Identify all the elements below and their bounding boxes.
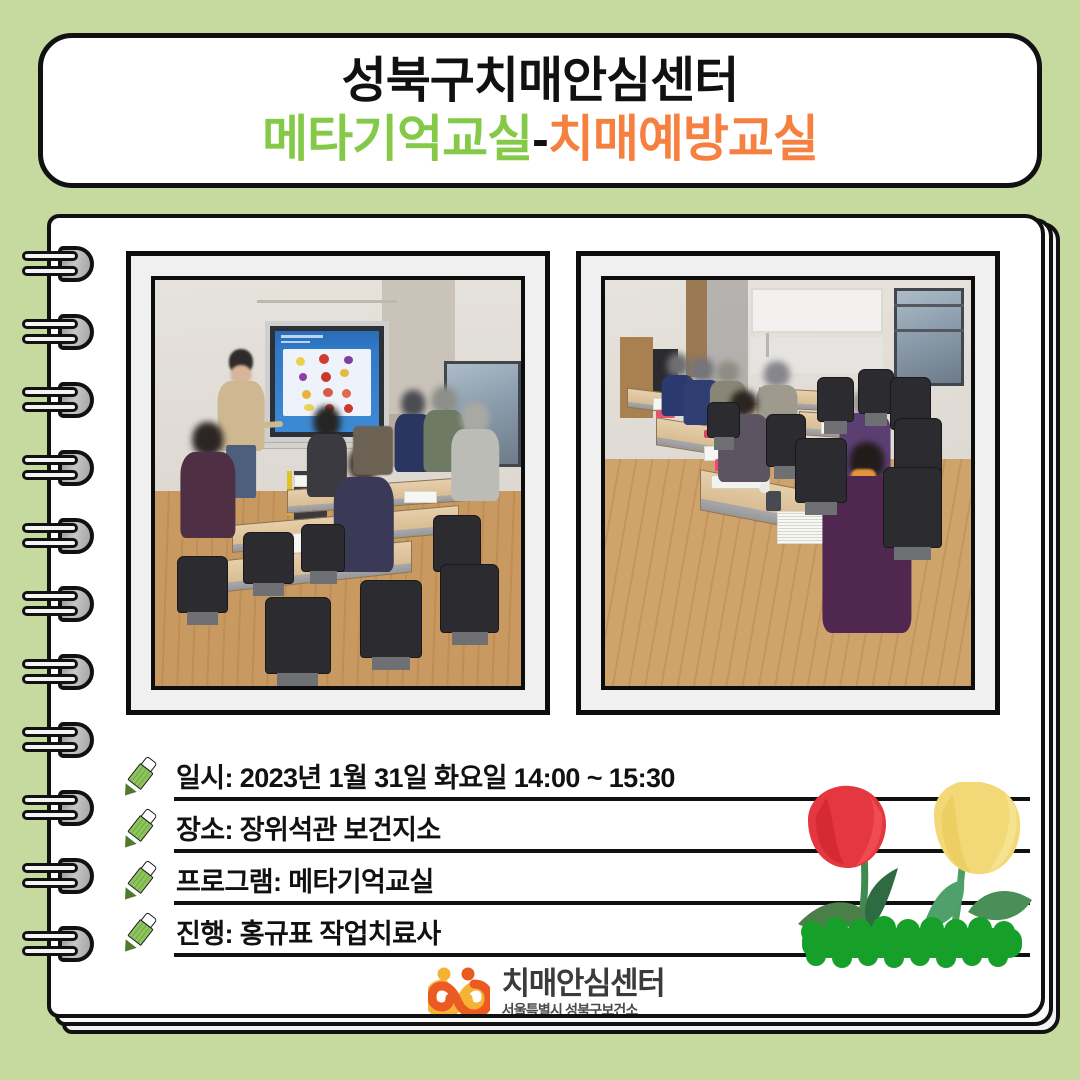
- classroom-lecture-photo: [151, 276, 525, 690]
- pencil-icon: [129, 806, 171, 848]
- photo-frame-lecture: [126, 251, 550, 715]
- subtitle-separator: -: [532, 111, 548, 167]
- logo-title: 치매안심센터: [502, 968, 665, 999]
- info-text-location: 장소: 장위석관 보건지소: [176, 808, 441, 847]
- pencil-icon: [129, 910, 171, 952]
- logo-subtitle: 서울특별시 성북구보건소: [502, 1003, 665, 1017]
- info-text-datetime: 일시: 2023년 1월 31일 화요일 14:00 ~ 15:30: [176, 756, 675, 795]
- worksheet-activity-photo: [601, 276, 975, 690]
- logo-text-block: 치매안심센터 서울특별시 성북구보건소: [502, 968, 665, 1017]
- pencil-icon: [129, 754, 171, 796]
- two-figures-infinity-logo: [428, 967, 490, 1017]
- poster-canvas: 성북구치매안심센터 메타기억교실-치매예방교실: [0, 0, 1080, 1080]
- tulip-illustration: [786, 782, 1044, 972]
- page-subtitle: 메타기억교실-치매예방교실: [262, 111, 818, 167]
- info-text-presenter: 진행: 홍규표 작업치료사: [176, 912, 441, 951]
- subtitle-program-name: 메타기억교실: [262, 111, 532, 167]
- page-title: 성북구치매안심센터: [342, 54, 739, 109]
- info-text-program: 프로그램: 메타기억교실: [176, 860, 434, 899]
- subtitle-program-type: 치매예방교실: [548, 111, 818, 167]
- center-logo: 치매안심센터 서울특별시 성북구보건소: [51, 967, 1041, 1017]
- title-banner: 성북구치매안심센터 메타기억교실-치매예방교실: [38, 33, 1042, 188]
- notebook-page: 일시: 2023년 1월 31일 화요일 14:00 ~ 15:30 장소: 장…: [47, 214, 1045, 1018]
- photo-frame-worksheet: [576, 251, 1000, 715]
- pencil-icon: [129, 858, 171, 900]
